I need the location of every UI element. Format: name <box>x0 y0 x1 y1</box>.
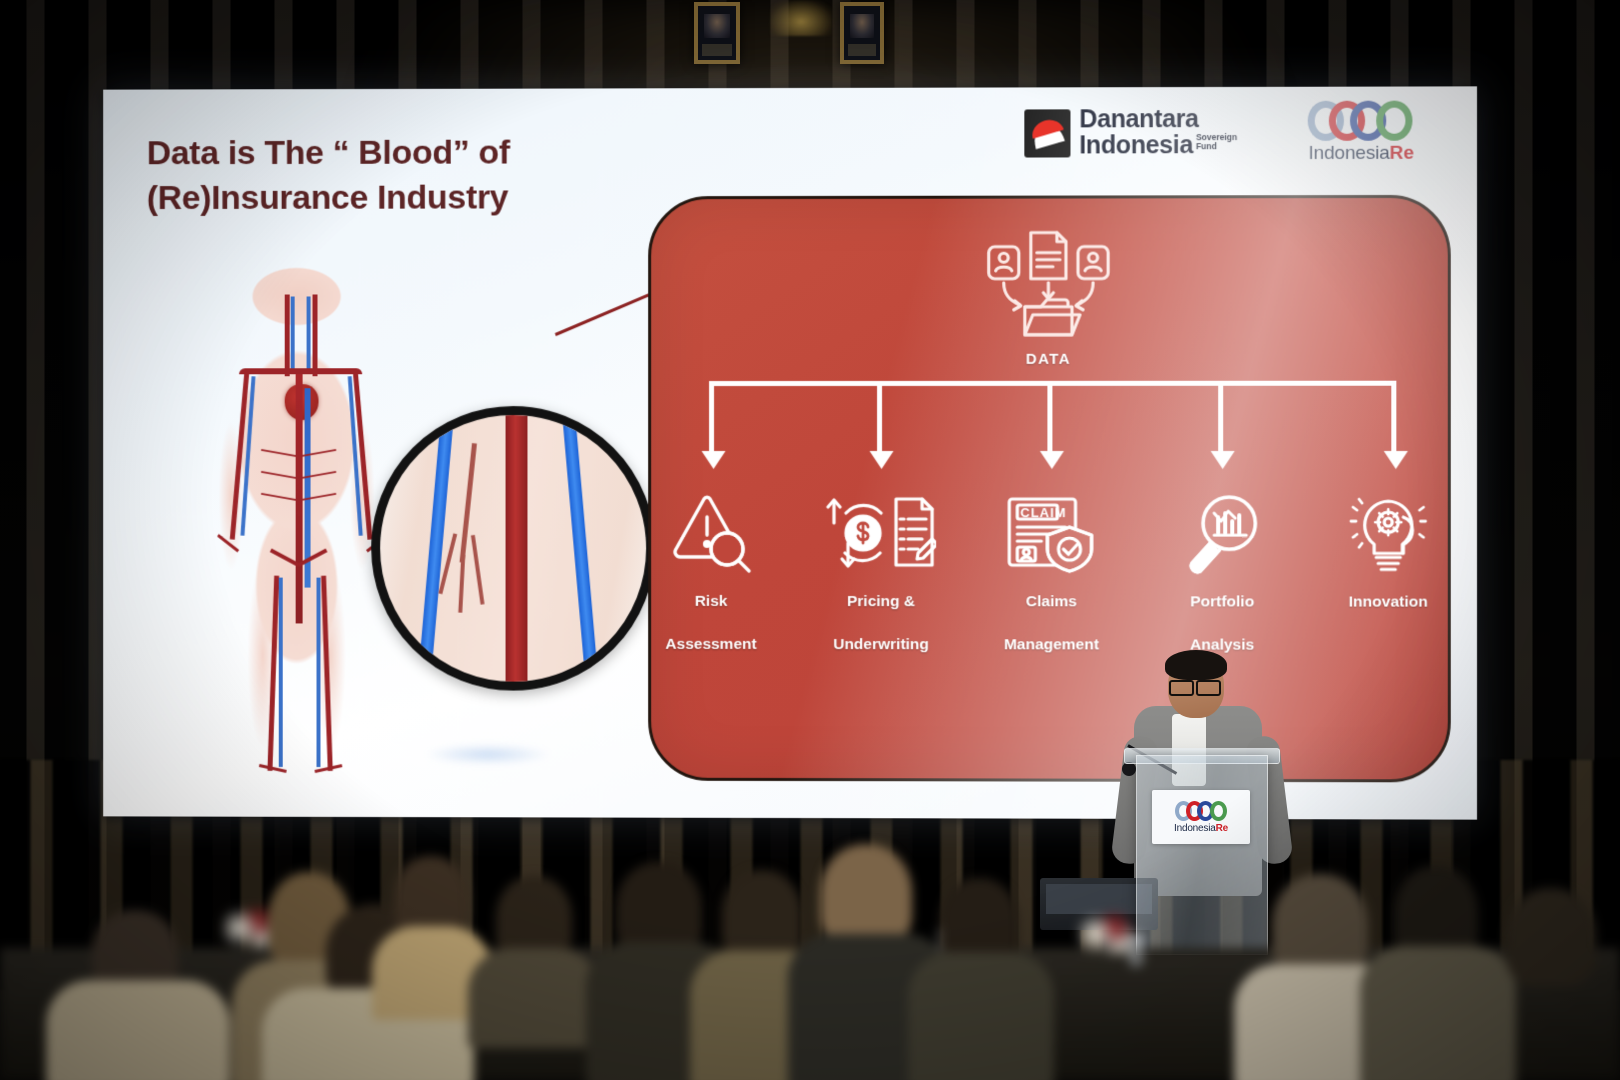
speaker-glasses-icon <box>1169 680 1221 692</box>
rib-branch-l3 <box>261 493 297 501</box>
human-body-silhouette-icon <box>197 257 396 776</box>
logo-row: Danantara IndonesiaSovereignFund Indones… <box>1024 101 1414 166</box>
bus-arrow-4 <box>1211 451 1235 469</box>
bus-arrow-5 <box>1384 451 1408 469</box>
bus-arrow-2 <box>870 451 894 469</box>
danantara-line-1: Danantara <box>1079 107 1237 133</box>
bus-drop-1 <box>709 381 714 453</box>
carotid-artery-left <box>285 295 290 377</box>
audience-body-1 <box>46 980 230 1080</box>
branch-label: Pricing & Underwriting <box>806 581 956 666</box>
data-collection-folder-icon <box>981 225 1116 345</box>
danantara-line-2: Indonesia <box>1079 133 1193 159</box>
right-leg-artery <box>321 576 333 771</box>
audience-head-7 <box>722 870 802 962</box>
magnified-branch-3 <box>458 555 465 613</box>
bus-arrow-3 <box>1040 451 1064 469</box>
bus-drop-5 <box>1391 381 1396 453</box>
branch-label: Innovation <box>1313 581 1464 624</box>
blood-vessel-magnifier-icon <box>371 406 655 691</box>
left-leg-vein <box>279 578 283 767</box>
page-title: Data is The “ Blood” of (Re)Insurance In… <box>147 130 664 221</box>
official-portrait-right-icon <box>840 2 884 64</box>
diagram-connector-bus <box>709 381 1396 473</box>
bus-arrow-1 <box>702 451 726 469</box>
audience-head-10 <box>1272 874 1368 978</box>
left-hand-vessels <box>217 534 239 552</box>
carotid-artery-right <box>313 294 318 376</box>
rib-branch-l2 <box>261 471 297 479</box>
slide-title-line-1: Data is The “ Blood” of <box>147 134 510 173</box>
risk-warning-magnifier-icon <box>636 485 786 581</box>
danantara-mark-icon <box>1024 109 1070 157</box>
indonesia-re-wordmark: IndonesiaRe <box>1308 143 1413 165</box>
branch-claims-management[interactable]: CLAIM Claims Management <box>976 485 1127 667</box>
garuda-emblem <box>770 0 832 36</box>
branch-label: Claims Management <box>976 581 1127 667</box>
figure-shadow <box>424 743 551 765</box>
magnified-artery <box>506 406 528 691</box>
microphone-head-icon <box>1122 762 1136 776</box>
magnified-vein-right <box>561 406 603 691</box>
branch-label: Risk Assessment <box>636 581 786 666</box>
jugular-vein-left <box>291 297 295 375</box>
magnified-branch-2 <box>471 535 485 605</box>
portrait-face <box>704 14 730 38</box>
bus-horizontal-line <box>709 381 1396 386</box>
danantara-tagline: SovereignFund <box>1196 133 1237 150</box>
subclavian-arch <box>239 368 362 374</box>
jugular-vein-right <box>307 296 311 374</box>
svg-text:CLAIM: CLAIM <box>1020 505 1066 520</box>
bus-drop-3 <box>1047 381 1052 453</box>
danantara-wordmark: Danantara IndonesiaSovereignFund <box>1079 107 1237 159</box>
water-glass-4 <box>1128 934 1144 968</box>
official-portrait-left-icon <box>694 2 740 64</box>
claim-form-shield-icon: CLAIM <box>976 485 1127 581</box>
bus-drop-2 <box>877 381 882 453</box>
audience-foreground <box>0 830 1620 1080</box>
rib-branch-l1 <box>261 449 297 457</box>
branch-pricing-underwriting[interactable]: Pricing & Underwriting <box>806 485 956 666</box>
indonesia-re-rings-icon <box>1175 801 1227 821</box>
innovation-lightbulb-gear-icon <box>1313 485 1464 581</box>
indonesia-re-logo: IndonesiaRe <box>1308 101 1415 165</box>
pricing-dollar-checklist-icon <box>806 485 956 581</box>
speaker-hair <box>1165 650 1227 680</box>
slide-title-line-2: (Re)Insurance Industry <box>147 175 664 221</box>
danantara-logo: Danantara IndonesiaSovereignFund <box>1024 107 1237 159</box>
right-leg-vein <box>317 578 321 767</box>
left-leg-artery <box>267 576 279 771</box>
indonesia-re-rings-icon <box>1308 101 1415 141</box>
data-source-label: DATA <box>651 351 1448 369</box>
audience-body-9 <box>908 952 1054 1080</box>
branch-risk-assessment[interactable]: Risk Assessment <box>636 485 786 666</box>
portrait-nameplate <box>848 44 876 56</box>
audience-head-8 <box>820 844 912 946</box>
audience-body-12 <box>1476 966 1620 1080</box>
portrait-nameplate <box>702 44 732 56</box>
audience-body-5 <box>468 948 600 1048</box>
portrait-face <box>850 14 874 38</box>
bus-drop-4 <box>1218 381 1223 453</box>
branch-innovation[interactable]: Innovation <box>1313 485 1464 624</box>
circulatory-figure-graphic <box>158 256 436 785</box>
data-flow-panel: DATA <box>648 195 1451 783</box>
portfolio-chart-magnifier-icon <box>1147 485 1298 581</box>
